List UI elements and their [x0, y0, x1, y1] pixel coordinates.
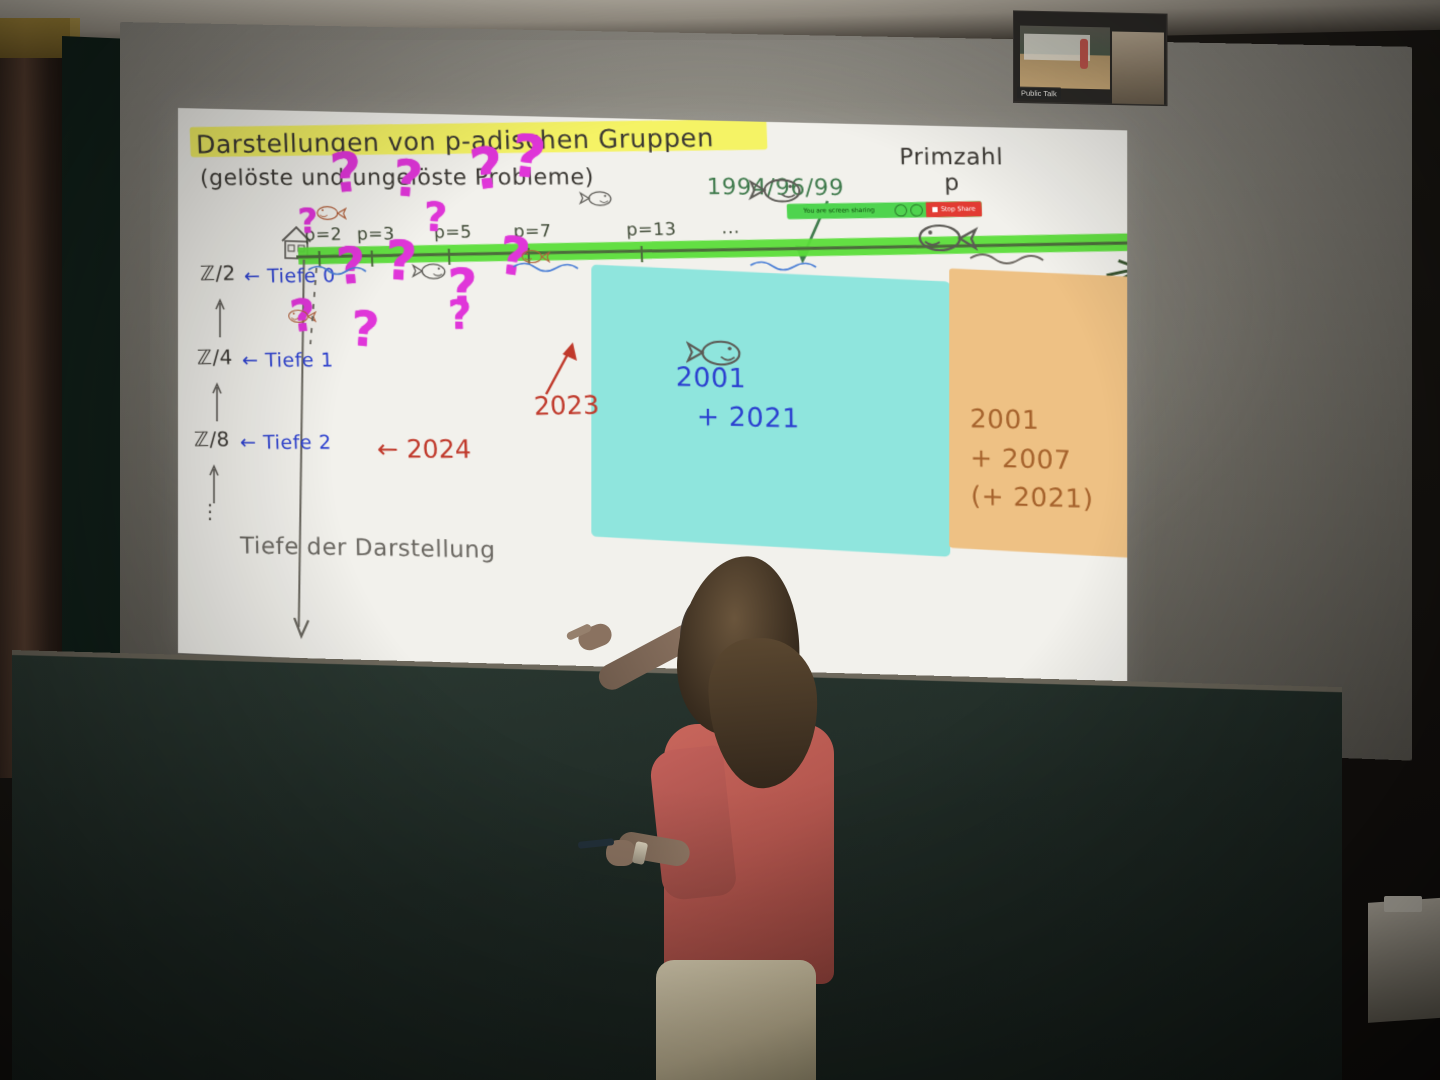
question-mark: ?: [328, 149, 364, 198]
participant-video-thumbnail[interactable]: Public Talk: [1013, 10, 1167, 105]
stop-share-button[interactable]: Stop Share: [926, 201, 982, 217]
presenter-trousers: [656, 960, 816, 1080]
lecture-room-photo: Darstellungen von p-adischen Gruppen (ge…: [0, 0, 1440, 1080]
water-squiggle: [748, 256, 831, 273]
fish-doodle: [579, 188, 614, 208]
red-pointer-arrow: [538, 337, 585, 401]
question-mark: ?: [448, 298, 473, 332]
side-table: [1368, 897, 1440, 1023]
slide-title: Darstellungen von p-adischen Gruppen: [196, 123, 715, 159]
question-mark: ?: [392, 156, 424, 201]
cyan-region-text: 2001 + 2021: [675, 359, 800, 439]
depth-axis-arrowhead: [290, 618, 312, 641]
water-squiggle: [511, 257, 593, 274]
thumbnail-label: Public Talk: [1017, 86, 1061, 99]
question-mark: ?: [423, 200, 448, 236]
depth-group-label: ℤ/4: [197, 345, 234, 369]
fish-doodle: [412, 261, 449, 282]
thumbnail-presenter: [1080, 39, 1088, 69]
stop-share-label: Stop Share: [941, 205, 976, 213]
depth-up-arrow: [211, 381, 223, 421]
prime-axis-label-line2: p: [900, 170, 1004, 196]
orange-region-text: 2001 + 2007 (+ 2021): [970, 400, 1094, 519]
depth-label: ← Tiefe 2: [240, 432, 332, 454]
pause-share-icon[interactable]: [894, 204, 907, 216]
prime-tick-label: ...: [721, 217, 740, 238]
depth-continues-ellipsis: ⋮: [200, 499, 221, 524]
depth-up-arrow: [214, 297, 226, 337]
orange-region-line2: + 2007: [970, 438, 1093, 480]
origin-dashed-line: [306, 268, 324, 349]
bottom-caption: Tiefe der Darstellung: [240, 533, 496, 564]
orange-region-line1: 2001: [970, 400, 1093, 441]
question-mark: ?: [467, 144, 507, 196]
fish-doodle: [748, 174, 804, 206]
table-object: [1384, 896, 1422, 912]
depth-label: ← Tiefe 1: [242, 349, 334, 371]
screen-sharing-status: You are screen sharing: [787, 206, 895, 215]
fish-doodle: [686, 336, 744, 370]
fish-doodle: [314, 204, 346, 223]
question-mark: ?: [509, 130, 549, 184]
stop-square-icon: [932, 207, 937, 212]
question-mark: ?: [349, 308, 380, 352]
prime-tick-label: p=13: [626, 219, 677, 240]
orange-region-line3: (+ 2021): [970, 477, 1093, 519]
depth-up-arrow: [208, 463, 220, 503]
cyan-region-line2: + 2021: [697, 398, 800, 439]
depth-group-label: ℤ/2: [200, 261, 237, 285]
thumbnail-desk-area: [1112, 31, 1164, 104]
red-annotation-2024: ← 2024: [377, 435, 472, 464]
prime-axis-label: Primzahl p: [899, 145, 1004, 196]
prime-axis-label-line1: Primzahl: [899, 145, 1003, 171]
presenter: [560, 548, 880, 1080]
annotate-icon[interactable]: [910, 204, 923, 216]
presenter-sleeve: [648, 745, 737, 902]
water-squiggle: [968, 248, 1057, 267]
zoom-share-toolbar[interactable]: You are screen sharing Stop Share: [787, 201, 982, 219]
depth-group-label: ℤ/8: [194, 427, 231, 451]
